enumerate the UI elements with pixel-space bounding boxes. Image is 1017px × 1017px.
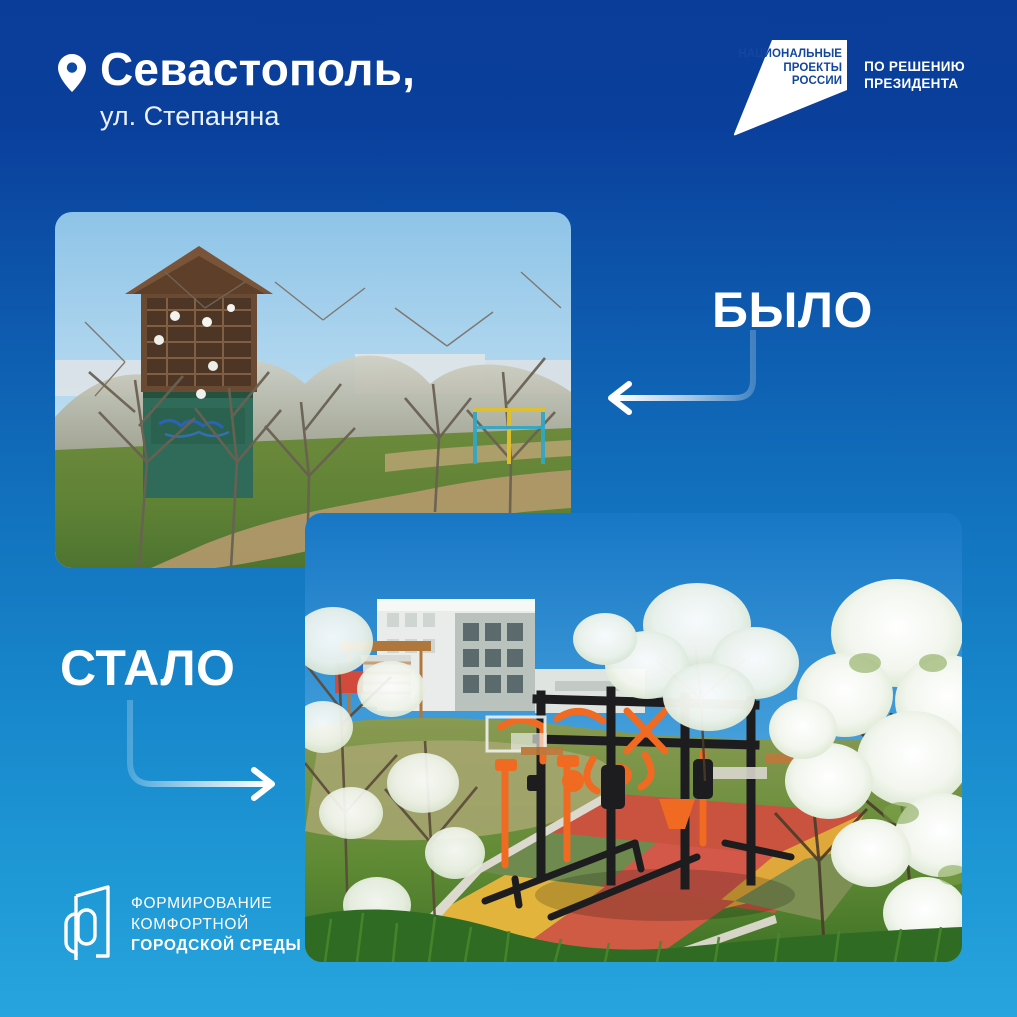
program-logo-line1: ФОРМИРОВАНИЕ bbox=[131, 893, 301, 914]
page-title: Севастополь, bbox=[100, 42, 415, 96]
np-tagline-line1: ПО РЕШЕНИЮ bbox=[864, 58, 965, 75]
np-logo-line1: НАЦИОНАЛЬНЫЕ bbox=[732, 48, 842, 62]
np-logo-line2: ПРОЕКТЫ bbox=[732, 62, 842, 76]
header: Севастополь, ул. Степаняна bbox=[58, 42, 415, 132]
location-pin-icon bbox=[58, 54, 86, 92]
program-logo-line3: ГОРОДСКОЙ СРЕДЫ bbox=[131, 935, 301, 956]
np-logo-text: НАЦИОНАЛЬНЫЕ ПРОЕКТЫ РОССИИ bbox=[732, 48, 842, 89]
program-logo: ФОРМИРОВАНИЕ КОМФОРТНОЙ ГОРОДСКОЙ СРЕДЫ bbox=[58, 884, 301, 964]
photo-after bbox=[305, 513, 962, 962]
np-tagline: ПО РЕШЕНИЮ ПРЕЗИДЕНТА bbox=[864, 58, 965, 92]
national-projects-logo: НАЦИОНАЛЬНЫЕ ПРОЕКТЫ РОССИИ ПО РЕШЕНИЮ П… bbox=[732, 38, 965, 138]
program-logo-text: ФОРМИРОВАНИЕ КОМФОРТНОЙ ГОРОДСКОЙ СРЕДЫ bbox=[131, 893, 301, 956]
street-subtitle: ул. Степаняна bbox=[100, 100, 415, 132]
location-line: Севастополь, bbox=[58, 42, 415, 96]
np-tagline-line2: ПРЕЗИДЕНТА bbox=[864, 75, 965, 92]
label-after: СТАЛО bbox=[60, 640, 235, 696]
program-logo-line2: КОМФОРТНОЙ bbox=[131, 914, 301, 935]
np-logo-line3: РОССИИ bbox=[732, 75, 842, 89]
arrow-before-icon bbox=[595, 330, 830, 420]
arrow-after-icon bbox=[122, 700, 287, 810]
np-flag-shape: НАЦИОНАЛЬНЫЕ ПРОЕКТЫ РОССИИ bbox=[732, 38, 850, 138]
house-key-icon bbox=[58, 884, 113, 964]
poster-canvas: Севастополь, ул. Степаняна НАЦИОНАЛЬНЫЕ … bbox=[0, 0, 1017, 1017]
